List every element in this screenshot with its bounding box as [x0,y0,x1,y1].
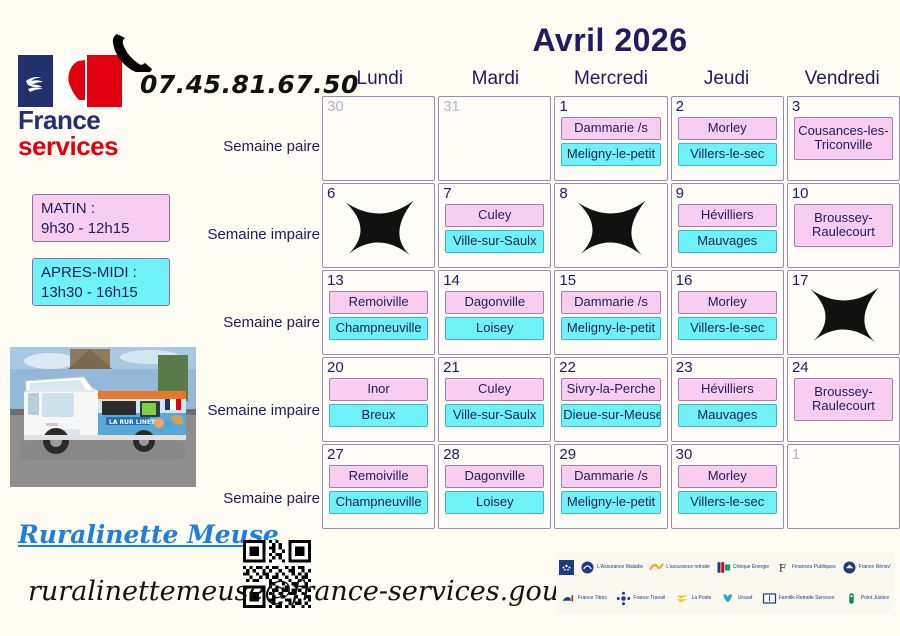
morning-location-badge[interactable]: Remoiville [329,465,428,488]
morning-location-badge[interactable]: Dagonville [445,291,544,314]
calendar-day-cell[interactable]: 22Sivry-la-PercheDieue-sur-Meuse [554,357,668,442]
calendar-day-cell[interactable]: 28DagonvilleLoisey [438,444,551,529]
calendar-day-cell[interactable]: 10Broussey-Raulecourt [787,183,900,268]
partner-logo-la-poste: La Poste [675,591,712,606]
day-badges: InorBreux [327,378,430,427]
svg-text:F: F [779,562,786,574]
afternoon-location-badge[interactable]: Loisey [445,317,544,340]
week-label-1: Semaine paire [145,138,320,155]
partner-logo-assurance-maladie: L'Assurance Maladie [580,560,643,575]
calendar-day-cell[interactable]: 29Dammarie /sMeligny-le-petit [554,444,667,529]
day-number: 14 [443,273,546,288]
day-badges: Dammarie /sMeligny-le-petit [559,291,662,340]
partner-label-france-travail: France Travail [633,596,665,601]
afternoon-location-badge[interactable]: Champneuville [329,491,428,514]
day-number: 23 [676,360,779,375]
day-badges: RemoivilleChampneuville [327,291,430,340]
afternoon-location-badge[interactable]: Mauvages [678,404,777,427]
logo-text-france: France [18,107,122,133]
day-badges: CuleyVille-sur-Saulx [443,204,546,253]
week-parity-labels: Semaine paire Semaine impaire Semaine pa… [140,98,320,548]
morning-location-badge[interactable]: Cousances-les-Triconville [794,117,893,160]
calendar-day-cell[interactable]: 20InorBreux [322,357,435,442]
afternoon-location-badge[interactable]: Villers-le-sec [678,491,777,514]
partner-label-france-renov: France Rénov' [859,565,891,570]
day-badges: HévilliersMauvages [676,204,779,253]
day-badges: Cousances-les-Triconville [792,117,895,160]
day-number: 29 [559,447,662,462]
morning-location-badge[interactable]: Morley [678,465,777,488]
morning-location-badge[interactable]: Remoiville [329,291,428,314]
day-badges: Sivry-la-PercheDieue-sur-Meuse [559,378,663,427]
partner-label-assurance-retraite: L'assurance retraite [666,565,710,570]
partner-logo-finances-publiques: F Finances Publiques [775,560,836,575]
closed-day-mark [564,194,657,260]
morning-location-badge[interactable]: Broussey-Raulecourt [794,378,893,421]
day-number: 2 [676,99,779,114]
day-badges: HévilliersMauvages [676,378,779,427]
weekday-jeudi: Jeudi [669,68,785,90]
afternoon-location-badge[interactable]: Loisey [445,491,544,514]
day-badges: Dammarie /sMeligny-le-petit [559,117,662,166]
afternoon-location-badge[interactable]: Villers-le-sec [678,317,777,340]
day-number: 16 [676,273,779,288]
day-number: 24 [792,360,895,375]
calendar-title: Avril 2026 [320,22,900,59]
weekday-mardi: Mardi [438,68,554,90]
calendar-day-cell[interactable]: 13RemoivilleChampneuville [322,270,435,355]
partner-logo-france-renov: France Rénov' [842,560,891,575]
partner-label-cheque-energie: Chèque Énergie [733,565,769,570]
closed-x-mark-icon [797,281,890,347]
morning-location-badge[interactable]: Dagonville [445,465,544,488]
partner-logos-row-1: L'Assurance Maladie L'assurance retraite… [556,552,894,583]
partner-logo-republique-francaise [559,560,574,575]
partner-label-urssaf: Urssaf [738,596,752,601]
afternoon-location-badge[interactable]: Meligny-le-petit [561,143,660,166]
calendar-week-row: 27RemoivilleChampneuville28DagonvilleLoi… [322,444,900,529]
day-number: 1 [792,447,895,462]
partner-label-france-titres: France Titres [578,596,607,601]
day-number: 9 [676,186,779,201]
afternoon-location-badge[interactable]: Mauvages [678,230,777,253]
logo-text-services: services [18,133,122,159]
afternoon-location-badge[interactable]: Champneuville [329,317,428,340]
weekday-lundi: Lundi [322,68,438,90]
day-number: 21 [443,360,546,375]
calendar-week-row: 67CuleyVille-sur-Saulx89HévilliersMauvag… [322,183,900,268]
morning-location-badge[interactable]: Morley [678,291,777,314]
calendar-day-cell[interactable]: 9HévilliersMauvages [671,183,784,268]
calendar-day-cell[interactable]: 21CuleyVille-sur-Saulx [438,357,551,442]
calendar-day-cell[interactable]: 24Broussey-Raulecourt [787,357,900,442]
email-address[interactable]: ruralinettemeuse@france-services.gouv.fr [28,576,603,607]
calendar-day-cell[interactable]: 15Dammarie /sMeligny-le-petit [554,270,667,355]
day-badges: Broussey-Raulecourt [792,204,895,247]
phone-icon [108,28,152,72]
france-services-logo: France services [18,55,122,159]
calendar-day-cell[interactable]: 1 [787,444,900,529]
calendar-week-row: 20InorBreux21CuleyVille-sur-Saulx22Sivry… [322,357,900,442]
calendar-day-cell[interactable]: 23HévilliersMauvages [671,357,784,442]
calendar-day-cell[interactable]: 14DagonvilleLoisey [438,270,551,355]
day-badges: Broussey-Raulecourt [792,378,895,421]
partner-logo-cheque-energie: Chèque Énergie [716,560,769,575]
day-badges: MorleyVillers-le-sec [676,117,779,166]
day-badges: MorleyVillers-le-sec [676,465,779,514]
day-number: 1 [559,99,662,114]
week-label-5: Semaine paire [145,490,320,507]
calendar-day-cell[interactable]: 8 [554,183,667,268]
calendar-day-cell[interactable]: 30 [322,96,435,181]
afternoon-location-badge[interactable]: Dieue-sur-Meuse [561,404,661,427]
partner-label-famille-retraite-services: Famille Retraite Services [779,596,835,601]
partner-logos-row-2: France Titres France Travail La Poste Ur… [556,583,894,614]
day-number: 22 [559,360,663,375]
week-label-3: Semaine paire [145,314,320,331]
morning-location-badge[interactable]: Dammarie /s [561,465,660,488]
day-number: 13 [327,273,430,288]
afternoon-location-badge[interactable]: Ville-sur-Saulx [445,404,544,427]
calendar-day-cell[interactable]: 1Dammarie /sMeligny-le-petit [554,96,667,181]
calendar-week-row: 13RemoivilleChampneuville14DagonvilleLoi… [322,270,900,355]
morning-location-badge[interactable]: Hévilliers [678,204,777,227]
calendar-week-row: 30311Dammarie /sMeligny-le-petit2MorleyV… [322,96,900,181]
calendar-day-cell[interactable]: 3Cousances-les-Triconville [787,96,900,181]
calendar-day-cell[interactable]: 16MorleyVillers-le-sec [671,270,784,355]
day-number: 27 [327,447,430,462]
partner-label-point-justice: Point Justice [861,596,889,601]
morning-location-badge[interactable]: Dammarie /s [561,117,660,140]
calendar-day-cell[interactable]: 27RemoivilleChampneuville [322,444,435,529]
partner-label-finances-publiques: Finances Publiques [792,565,836,570]
partner-logo-france-travail: France Travail [616,591,665,606]
calendar-day-cell[interactable]: 17 [787,270,900,355]
morning-location-badge[interactable]: Hévilliers [678,378,777,401]
calendar-day-cell[interactable]: 6 [322,183,435,268]
day-number: 10 [792,186,895,201]
day-number: 3 [792,99,895,114]
day-number: 30 [327,99,430,114]
morning-location-badge[interactable]: Broussey-Raulecourt [794,204,893,247]
partner-label-assurance-maladie: L'Assurance Maladie [597,565,643,570]
day-badges: RemoivilleChampneuville [327,465,430,514]
day-badges: DagonvilleLoisey [443,291,546,340]
partner-logos-strip: L'Assurance Maladie L'assurance retraite… [556,552,894,614]
weekday-vendredi: Vendredi [784,68,900,90]
partner-logo-point-justice: Point Justice [844,591,889,606]
afternoon-location-badge[interactable]: Villers-le-sec [678,143,777,166]
partner-logo-france-titres: France Titres [561,591,607,606]
partner-logo-assurance-retraite: L'assurance retraite [649,560,710,575]
calendar-day-cell[interactable]: 2MorleyVillers-le-sec [671,96,784,181]
morning-location-badge[interactable]: Sivry-la-Perche [561,378,661,401]
closed-x-mark-icon [564,194,657,260]
calendar-day-cell[interactable]: 30MorleyVillers-le-sec [671,444,784,529]
day-badges: MorleyVillers-le-sec [676,291,779,340]
calendar-weekday-header: Lundi Mardi Mercredi Jeudi Vendredi [322,68,900,90]
day-badges: CuleyVille-sur-Saulx [443,378,546,427]
calendar-grid: 30311Dammarie /sMeligny-le-petit2MorleyV… [322,96,900,531]
weekday-mercredi: Mercredi [553,68,669,90]
afternoon-location-badge[interactable]: Meligny-le-petit [561,491,660,514]
afternoon-location-badge[interactable]: Ville-sur-Saulx [445,230,544,253]
morning-location-badge[interactable]: Dammarie /s [561,291,660,314]
day-badges: Dammarie /sMeligny-le-petit [559,465,662,514]
partner-logo-urssaf: Urssaf [721,591,752,606]
day-number: 31 [443,99,546,114]
day-badges: DagonvilleLoisey [443,465,546,514]
day-number: 20 [327,360,430,375]
day-number: 15 [559,273,662,288]
partner-label-la-poste: La Poste [692,596,712,601]
poster-root: France services 07.45.81.67.50 MATIN : 9… [0,0,900,636]
morning-location-badge[interactable]: Inor [329,378,428,401]
closed-day-mark [332,194,425,260]
morning-location-badge[interactable]: Morley [678,117,777,140]
afternoon-location-badge[interactable]: Breux [329,404,428,427]
partner-logo-famille-retraite-services: Famille Retraite Services [762,591,835,606]
closed-x-mark-icon [332,194,425,260]
morning-location-badge[interactable]: Culey [445,378,544,401]
day-number: 30 [676,447,779,462]
calendar-day-cell[interactable]: 31 [438,96,551,181]
day-number: 28 [443,447,546,462]
afternoon-location-badge[interactable]: Meligny-le-petit [561,317,660,340]
morning-location-badge[interactable]: Culey [445,204,544,227]
week-label-4: Semaine impaire [145,402,320,419]
closed-day-mark [797,281,890,347]
marianne-flag-icon [18,55,122,107]
week-label-2: Semaine impaire [145,226,320,243]
calendar-day-cell[interactable]: 7CuleyVille-sur-Saulx [438,183,551,268]
day-number: 7 [443,186,546,201]
